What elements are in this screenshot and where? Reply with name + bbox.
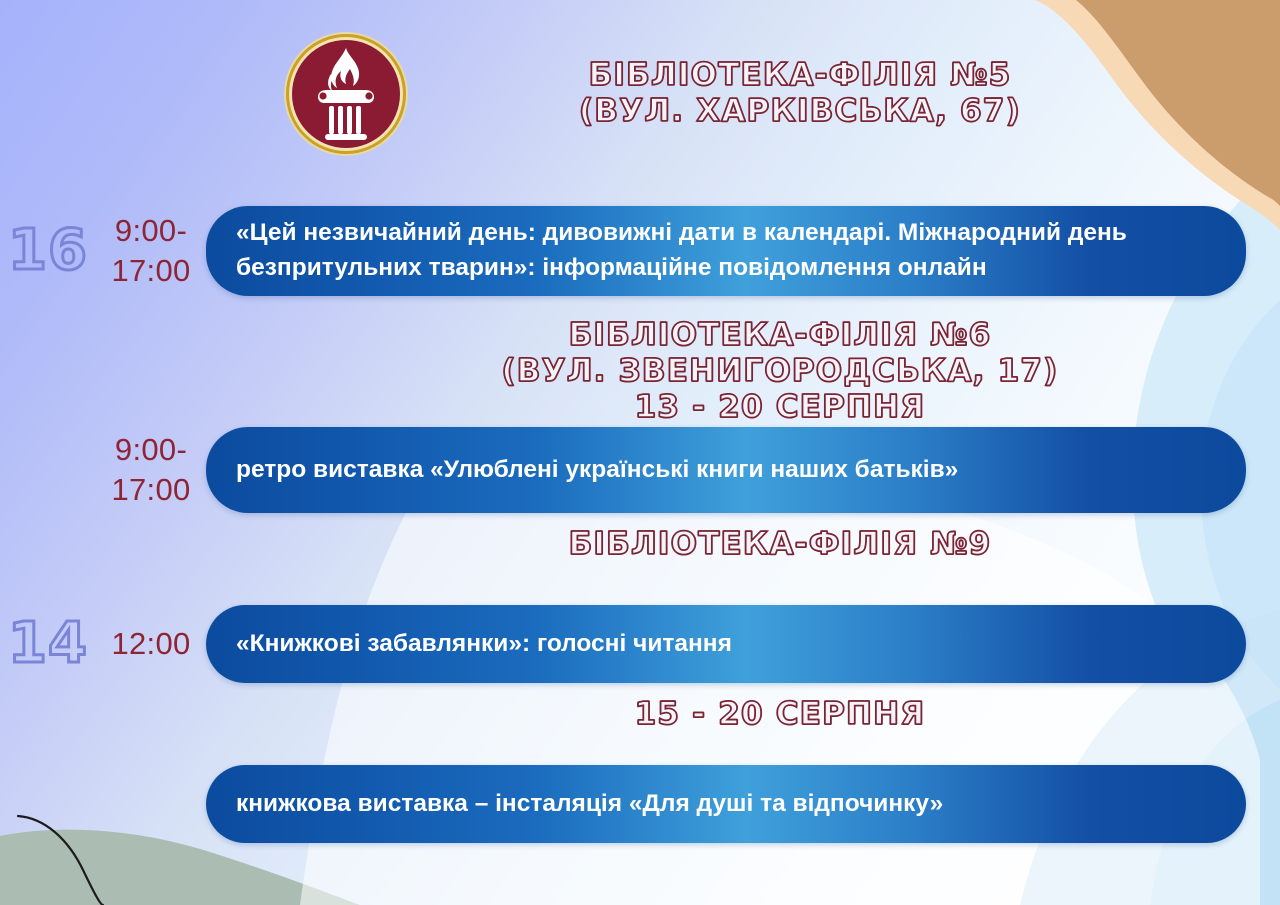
event-row-1: 16 9:00- 17:00 «Цей незвичайний день: ди…: [0, 203, 1280, 299]
branch-6-date-range: 13 - 20 СЕРПНЯ: [280, 390, 1280, 426]
event-row-4: книжкова виставка – інсталяція «Для душі…: [0, 762, 1280, 846]
branch-6-heading: БІБЛІОТЕКА-ФІЛІЯ №6 (ВУЛ. ЗВЕНИГОРОДСЬКА…: [280, 318, 1280, 426]
branch-6-heading-line-2: (ВУЛ. ЗВЕНИГОРОДСЬКА, 17): [280, 354, 1280, 390]
branch-5-heading-line-1: БІБЛІОТЕКА-ФІЛІЯ №5: [440, 58, 1160, 94]
event-1-title-pill[interactable]: «Цей незвичайний день: дивовижні дати в …: [206, 206, 1246, 296]
event-2-title-text: ретро виставка «Улюблені українські книг…: [236, 453, 958, 488]
branch-9-heading-line-1: БІБЛІОТЕКА-ФІЛІЯ №9: [280, 527, 1280, 563]
event-3-day-number: 14: [0, 616, 96, 672]
branch-9-heading: БІБЛІОТЕКА-ФІЛІЯ №9: [280, 527, 1280, 563]
branch-5-heading-line-2: (ВУЛ. ХАРКІВСЬКА, 67): [440, 94, 1160, 130]
branch-5-heading: БІБЛІОТЕКА-ФІЛІЯ №5 (ВУЛ. ХАРКІВСЬКА, 67…: [440, 58, 1160, 130]
event-2-time: 9:00- 17:00: [96, 430, 206, 509]
date-range-heading: 15 - 20 СЕРПНЯ: [280, 697, 1280, 733]
branch-6-heading-line-1: БІБЛІОТЕКА-ФІЛІЯ №6: [280, 318, 1280, 354]
poster-header: БІБЛІОТЕКА-ФІЛІЯ №5 (ВУЛ. ХАРКІВСЬКА, 67…: [0, 16, 1280, 166]
event-1-day-number: 16: [0, 223, 96, 279]
date-range-heading-line-1: 15 - 20 СЕРПНЯ: [280, 697, 1280, 733]
event-row-2: 9:00- 17:00 ретро виставка «Улюблені укр…: [0, 424, 1280, 516]
event-3-title-pill[interactable]: «Книжкові забавлянки»: голосні читання: [206, 605, 1246, 683]
event-4-title-text: книжкова виставка – інсталяція «Для душі…: [236, 787, 943, 822]
event-3-title-text: «Книжкові забавлянки»: голосні читання: [236, 627, 732, 662]
event-schedule-poster: БІБЛІОТЕКА-ФІЛІЯ №5 (ВУЛ. ХАРКІВСЬКА, 67…: [0, 0, 1280, 905]
event-row-3: 14 12:00 «Книжкові забавлянки»: голосні …: [0, 602, 1280, 686]
event-3-time: 12:00: [96, 624, 206, 664]
event-1-time: 9:00- 17:00: [96, 211, 206, 290]
event-2-title-pill[interactable]: ретро виставка «Улюблені українські книг…: [206, 427, 1246, 513]
event-1-title-text: «Цей незвичайний день: дивовижні дати в …: [236, 216, 1216, 286]
library-emblem-logo: [282, 30, 410, 158]
event-4-title-pill[interactable]: книжкова виставка – інсталяція «Для душі…: [206, 765, 1246, 843]
